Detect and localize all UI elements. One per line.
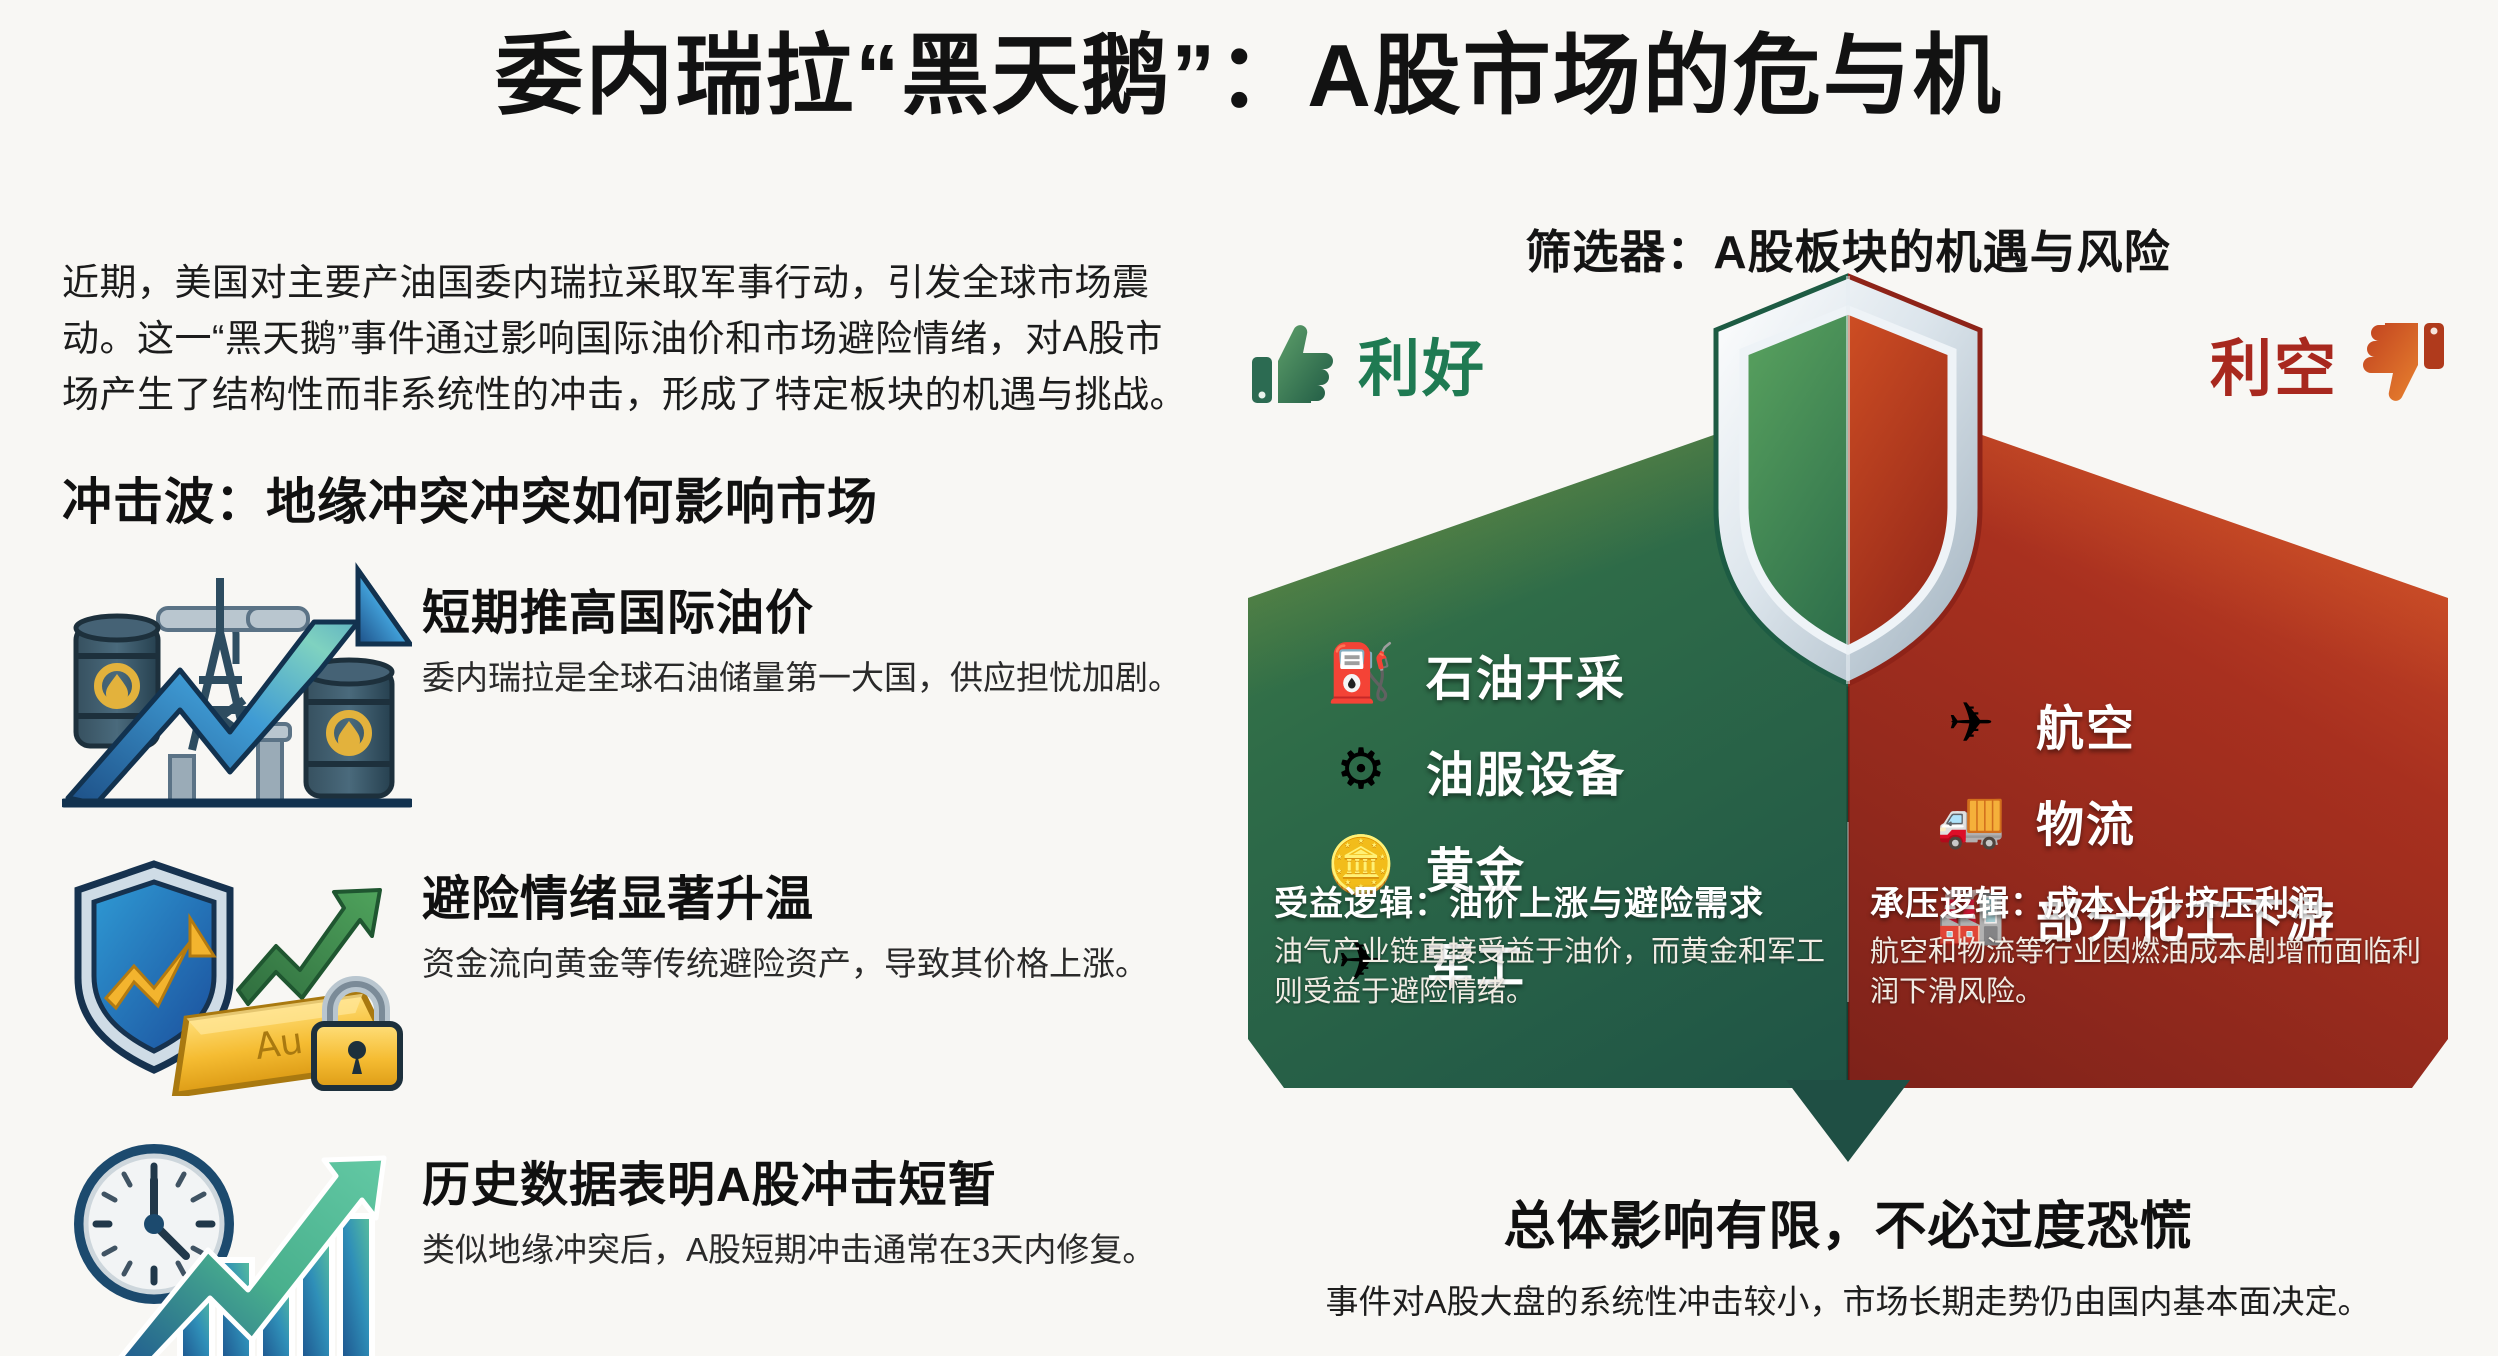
logic-desc: 航空和物流等行业因燃油成本剧增而面临利润下滑风险。 [1870, 933, 2422, 1012]
logic-title: 受益逻辑：油价上涨与避险需求 [1274, 876, 1826, 925]
shield-emblem-icon [1708, 270, 1988, 690]
impact-text: 历史数据表明A股冲击短暂 类似地缘冲突后，A股短期冲击通常在3天内修复。 [412, 1132, 1155, 1274]
list-item: ✈ 航空 [1936, 676, 2448, 772]
page-title: 委内瑞拉“黑天鹅”：A股市场的危与机 [0, 28, 2498, 125]
impact-text: 避险情绪显著升温 资金流向黄金等传统避险资产，导致其价格上涨。 [412, 846, 1148, 988]
impact-desc: 类似地缘冲突后，A股短期冲击通常在3天内修复。 [422, 1227, 1155, 1274]
oil-derrick-icon: ⛽ [1326, 646, 1396, 702]
infographic-page: 委内瑞拉“黑天鹅”：A股市场的危与机 近期，美国对主要产油国委内瑞拉采取军事行动… [0, 0, 2498, 1356]
logic-divider [1847, 822, 1849, 1002]
list-item: 历史数据表明A股冲击短暂 类似地缘冲突后，A股短期冲击通常在3天内修复。 [62, 1132, 1192, 1356]
conclusion-desc: 事件对A股大盘的系统性冲击较小，市场长期走势仍由国内基本面决定。 [1248, 1275, 2448, 1323]
oil-barrels-rising-chart-icon [62, 560, 412, 810]
clock-bar-chart-icon [62, 1132, 412, 1356]
impact-title: 历史数据表明A股冲击短暂 [422, 1160, 1155, 1213]
conclusion-block: 总体影响有限，不必过度恐慌 事件对A股大盘的系统性冲击较小，市场长期走势仍由国内… [1248, 1184, 2448, 1323]
sector-label: 油服设备 [1426, 735, 1626, 805]
impact-list: 短期推高国际油价 委内瑞拉是全球石油储量第一大国，供应担忧加剧。 [62, 560, 1192, 1356]
impact-title: 短期推高国际油价 [422, 588, 1181, 641]
impact-desc: 资金流向黄金等传统避险资产，导致其价格上涨。 [422, 941, 1148, 988]
sector-label: 石油开采 [1426, 639, 1626, 709]
gear-wrench-icon: ⚙ [1326, 742, 1396, 798]
delivery-truck-icon: 🚚 [1936, 792, 2006, 848]
logic-title: 承压逻辑：成本上升挤压利润 [1870, 876, 2422, 925]
left-column: 近期，美国对主要产油国委内瑞拉采取军事行动，引发全球市场震动。这一“黑天鹅”事件… [62, 255, 1192, 1356]
conclusion-title: 总体影响有限，不必过度恐慌 [1248, 1184, 2448, 1259]
list-item: 短期推高国际油价 委内瑞拉是全球石油储量第一大国，供应担忧加剧。 [62, 560, 1192, 810]
logic-desc: 油气产业链直接受益于油价，而黄金和军工则受益于避险情绪。 [1274, 933, 1826, 1012]
sector-label: 物流 [2036, 785, 2136, 855]
list-item: Au 避险情绪显著升温 资金流向黄金等传统避险资产，导致其价格上涨。 [62, 846, 1192, 1096]
shield-gold-bar-lock-icon: Au [62, 846, 412, 1096]
down-arrow-icon [1786, 1080, 1910, 1162]
right-column: 筛选器：A股板块的机遇与风险 利好 利空 [1248, 216, 2448, 1323]
sector-comparison-stage: ⛽ 石油开采 ⚙ 油服设备 🪙 黄金 ✈ 军工 ✈ [1248, 388, 2448, 1088]
bad-logic-box: 承压逻辑：成本上升挤压利润 航空和物流等行业因燃油成本剧增而面临利润下滑风险。 [1870, 876, 2422, 1012]
list-item: 🚚 物流 [1936, 772, 2448, 868]
svg-text:Au: Au [253, 1020, 306, 1067]
impact-title: 避险情绪显著升温 [422, 874, 1148, 927]
impact-text: 短期推高国际油价 委内瑞拉是全球石油储量第一大国，供应担忧加剧。 [412, 560, 1181, 702]
intro-paragraph: 近期，美国对主要产油国委内瑞拉采取军事行动，引发全球市场震动。这一“黑天鹅”事件… [62, 255, 1192, 424]
airplane-icon: ✈ [1936, 696, 2006, 752]
list-item: ⚙ 油服设备 [1326, 722, 1848, 818]
section-heading-shockwave: 冲击波：地缘冲突冲突如何影响市场 [62, 462, 1192, 534]
good-logic-box: 受益逻辑：油价上涨与避险需求 油气产业链直接受益于油价，而黄金和军工则受益于避险… [1274, 876, 1826, 1012]
impact-desc: 委内瑞拉是全球石油储量第一大国，供应担忧加剧。 [422, 655, 1181, 702]
sector-label: 航空 [2036, 689, 2136, 759]
